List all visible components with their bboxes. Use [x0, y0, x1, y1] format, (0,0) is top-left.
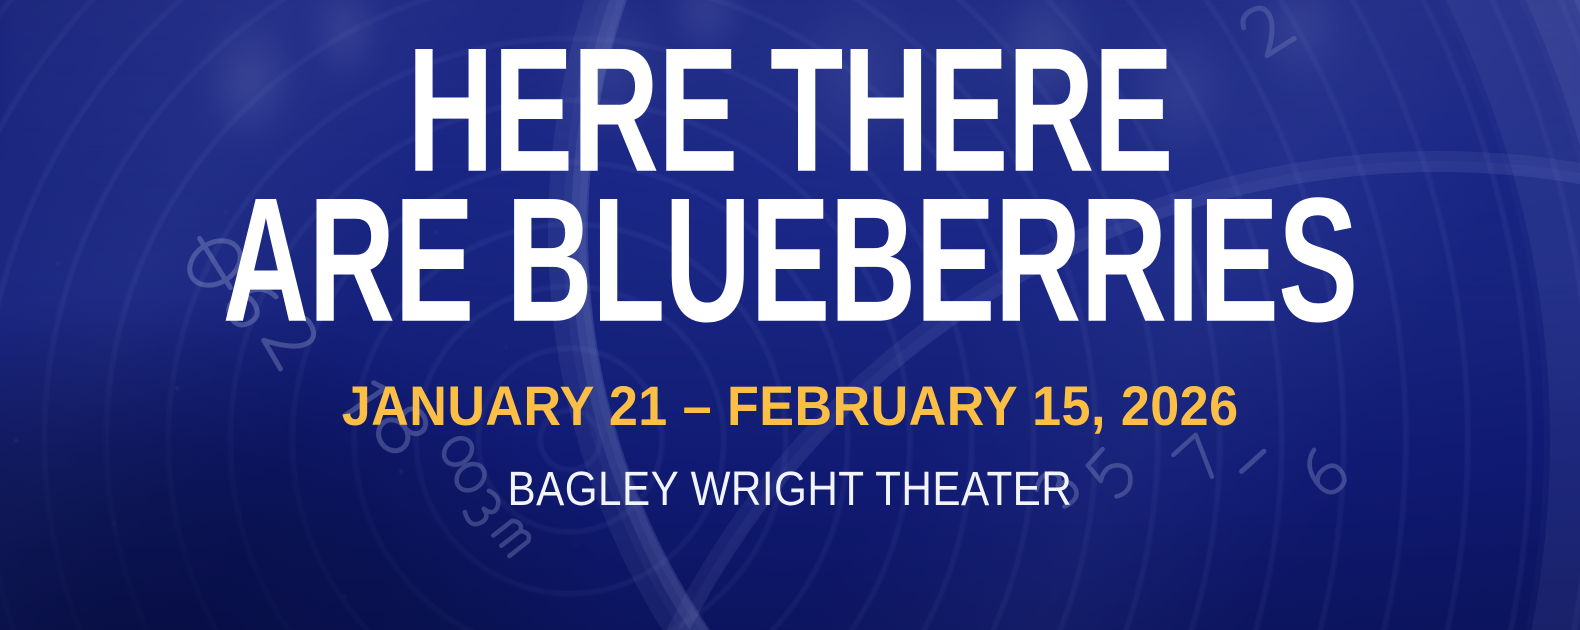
- show-title: HERE THERE ARE BLUEBERRIES: [0, 28, 1580, 316]
- show-title-line-2: ARE BLUEBERRIES: [158, 178, 1422, 341]
- banner-content: HERE THERE ARE BLUEBERRIES JANUARY 21 – …: [0, 0, 1580, 630]
- show-venue: BAGLEY WRIGHT THEATER: [508, 466, 1073, 514]
- show-date-range: JANUARY 21 – FEBRUARY 15, 2026: [342, 378, 1239, 434]
- show-promo-banner: HERE THERE ARE BLUEBERRIES JANUARY 21 – …: [0, 0, 1580, 630]
